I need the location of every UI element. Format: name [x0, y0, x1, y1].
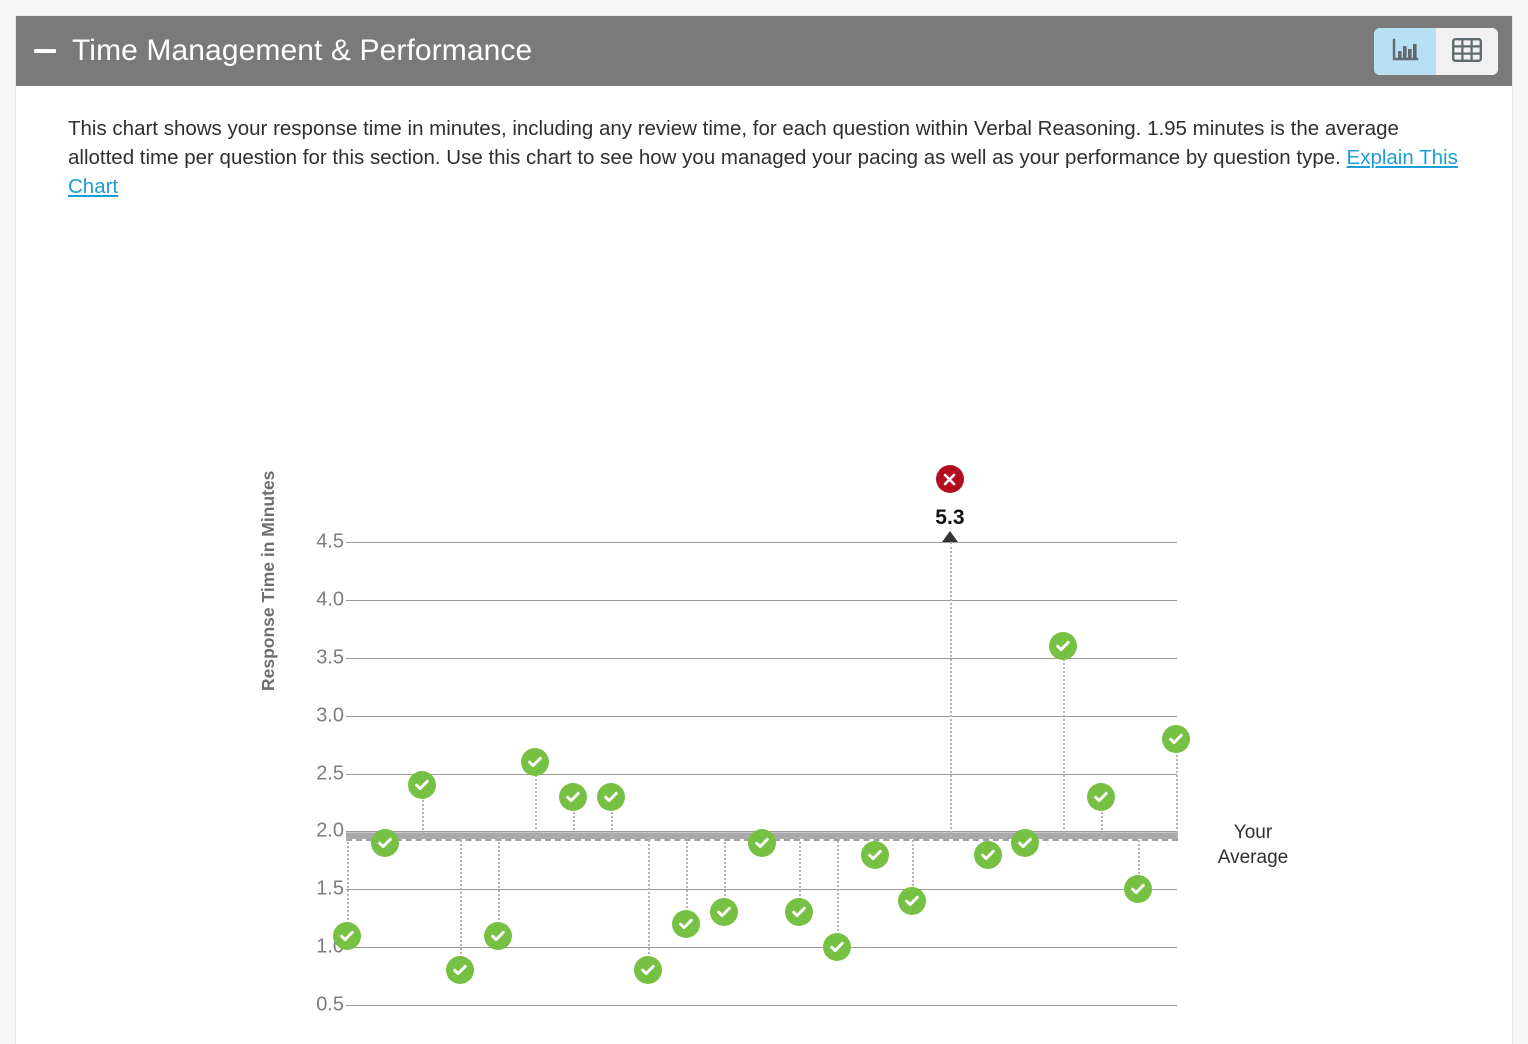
- point-stem: [1063, 646, 1065, 837]
- data-point-marker[interactable]: [1049, 632, 1077, 660]
- page-title: Time Management & Performance: [72, 34, 532, 68]
- data-point-marker[interactable]: [823, 933, 851, 961]
- your-average-label-line1: Your: [1198, 820, 1308, 845]
- data-point-marker[interactable]: [898, 887, 926, 915]
- point-stem: [498, 837, 500, 935]
- off-scale-arrow-icon: [942, 531, 958, 542]
- data-point-marker[interactable]: [333, 922, 361, 950]
- y-tick-label: 2.5: [224, 762, 344, 785]
- table-grid-icon: [1452, 38, 1482, 65]
- minus-icon[interactable]: [34, 49, 56, 53]
- y-tick-label: 2.0: [224, 820, 344, 843]
- your-average-label-line2: Average: [1198, 845, 1308, 870]
- data-point-marker[interactable]: [559, 783, 587, 811]
- data-point-marker[interactable]: [1087, 783, 1115, 811]
- data-point-marker[interactable]: [484, 922, 512, 950]
- point-stem: [648, 837, 650, 970]
- response-time-scatter-chart: Response Time in Minutes Question Number…: [16, 201, 1512, 1021]
- y-tick-label: 1.5: [224, 878, 344, 901]
- your-average-label: YourAverage: [1198, 820, 1308, 870]
- y-tick-label: 3.5: [224, 646, 344, 669]
- data-point-marker[interactable]: [974, 841, 1002, 869]
- gridline: [346, 542, 1177, 543]
- y-tick-label: 1.0: [224, 936, 344, 959]
- time-management-card: Time Management & Performance: [16, 16, 1512, 1044]
- point-stem: [837, 837, 839, 947]
- point-stem: [950, 542, 952, 837]
- chart-description-text: This chart shows your response time in m…: [68, 117, 1399, 169]
- y-tick-label: 4.5: [224, 531, 344, 554]
- data-point-marker[interactable]: [1162, 725, 1190, 753]
- off-scale-value-label: 5.3: [935, 506, 964, 530]
- data-point-marker[interactable]: [936, 465, 964, 493]
- point-stem: [347, 837, 349, 935]
- gridline: [346, 658, 1177, 659]
- gridline: [346, 1005, 1177, 1006]
- data-point-marker[interactable]: [597, 783, 625, 811]
- gridline: [346, 774, 1177, 775]
- page-root: Time Management & Performance: [0, 0, 1528, 1044]
- point-stem: [460, 837, 462, 970]
- data-point-marker[interactable]: [748, 829, 776, 857]
- gridline: [346, 947, 1177, 948]
- y-tick-label: 0.5: [224, 994, 344, 1017]
- gridline: [346, 600, 1177, 601]
- y-tick-label: 4.0: [224, 588, 344, 611]
- table-view-button[interactable]: [1436, 28, 1498, 75]
- data-point-marker[interactable]: [861, 841, 889, 869]
- point-stem: [1176, 739, 1178, 837]
- data-point-marker[interactable]: [672, 910, 700, 938]
- data-point-marker[interactable]: [371, 829, 399, 857]
- gridline: [346, 716, 1177, 717]
- y-tick-label: 3.0: [224, 704, 344, 727]
- chart-view-button[interactable]: [1374, 28, 1436, 75]
- bar-chart-icon: [1391, 37, 1419, 66]
- gridline: [346, 889, 1177, 890]
- chart-description: This chart shows your response time in m…: [68, 114, 1464, 201]
- card-header: Time Management & Performance: [16, 16, 1512, 86]
- view-toggle-group: [1374, 28, 1498, 75]
